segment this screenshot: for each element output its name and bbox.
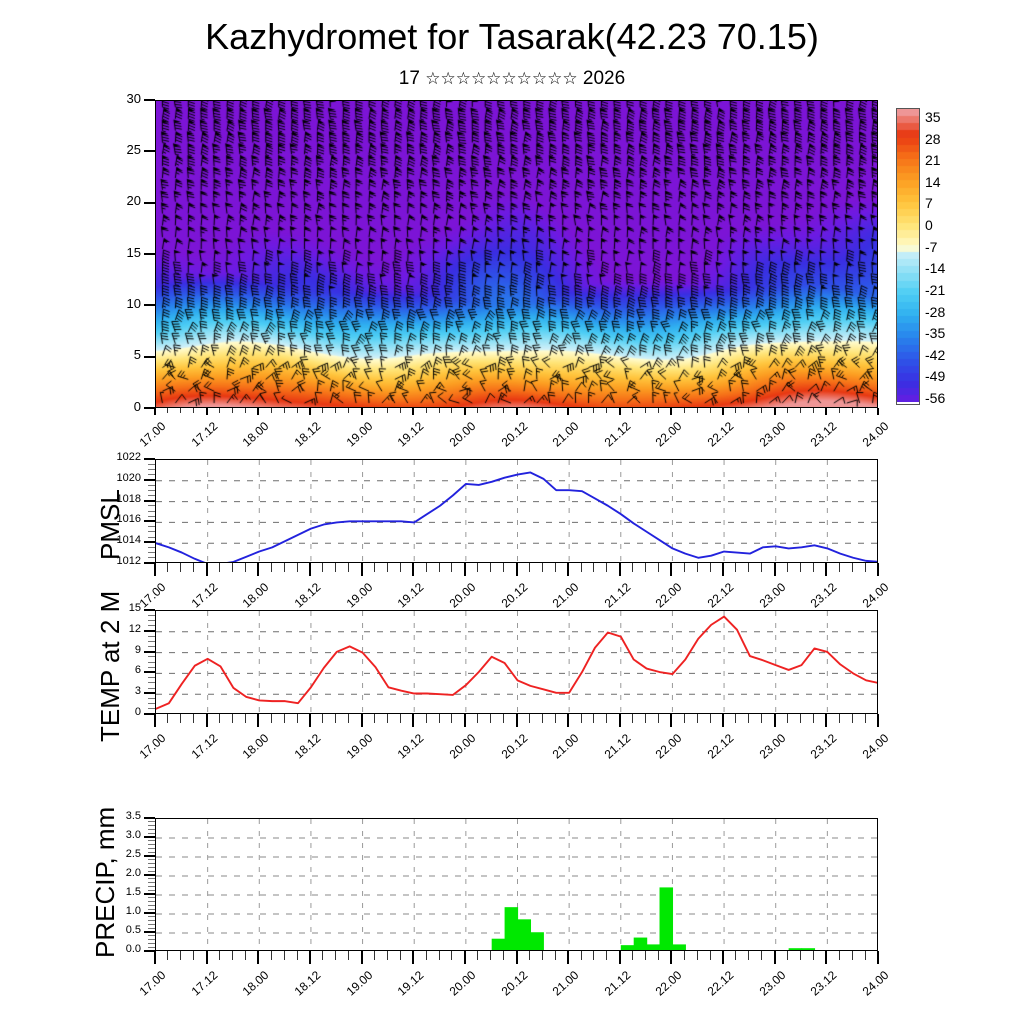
y-tick-minor <box>148 485 155 486</box>
x-tick-minor <box>697 408 698 413</box>
precip-bar <box>530 932 544 951</box>
y-tick-minor <box>148 526 155 527</box>
x-axis-tick-label: 23.12 <box>793 968 840 1012</box>
y-tick-minor <box>148 646 155 647</box>
y-tick-minor <box>148 625 155 626</box>
x-tick-minor <box>658 408 659 413</box>
precip-bar <box>492 939 506 951</box>
subtitle-year: 2026 <box>583 68 625 89</box>
x-tick-minor <box>684 951 685 960</box>
x-tick-major <box>154 408 156 415</box>
x-tick-minor <box>271 408 272 413</box>
x-tick-minor <box>529 408 530 413</box>
y-tick-minor <box>148 840 155 841</box>
x-tick-minor <box>710 408 711 413</box>
y-tick-minor <box>148 871 155 872</box>
x-tick-minor <box>439 951 440 960</box>
x-tick-major <box>516 408 518 415</box>
x-axis-tick-label: 20.12 <box>483 731 530 775</box>
x-tick-minor <box>645 714 646 723</box>
x-tick-minor <box>167 714 168 723</box>
x-tick-major <box>309 714 311 727</box>
x-tick-minor <box>335 408 336 413</box>
x-axis-tick-label: 17.12 <box>173 968 220 1012</box>
colorbar-tick-label: 7 <box>925 195 933 211</box>
x-tick-minor <box>606 408 607 413</box>
y-tick-major <box>144 202 155 204</box>
x-axis-tick-label: 21.00 <box>535 968 582 1012</box>
x-tick-minor <box>284 714 285 723</box>
x-tick-minor <box>787 714 788 723</box>
y-tick-minor <box>148 698 155 699</box>
y-tick-minor <box>148 677 155 678</box>
y-tick-minor <box>148 905 155 906</box>
x-tick-minor <box>400 714 401 723</box>
x-tick-major <box>619 714 621 727</box>
y-tick-minor <box>148 516 155 517</box>
x-tick-major <box>206 714 208 727</box>
x-tick-minor <box>710 951 711 960</box>
y-tick-major <box>144 541 155 543</box>
x-tick-minor <box>271 951 272 960</box>
x-tick-major <box>257 951 259 964</box>
x-tick-major <box>154 714 156 727</box>
x-tick-minor <box>219 563 220 572</box>
x-axis-tick-label: 22.00 <box>638 419 685 463</box>
y-tick-minor <box>148 708 155 709</box>
x-tick-minor <box>439 408 440 413</box>
y-tick-minor <box>148 890 155 891</box>
x-tick-minor <box>180 714 181 723</box>
x-tick-major <box>309 951 311 964</box>
x-axis-tick-label: 19.12 <box>380 968 427 1012</box>
page-title: Kazhydromet for Tasarak(42.23 70.15) <box>0 16 1024 58</box>
x-tick-minor <box>348 714 349 723</box>
y-tick-minor <box>148 916 155 917</box>
x-tick-minor <box>800 714 801 723</box>
x-tick-minor <box>710 714 711 723</box>
y-axis-tick-label: 1022 <box>93 451 141 463</box>
x-tick-minor <box>710 563 711 572</box>
x-tick-minor <box>852 563 853 572</box>
x-tick-minor <box>490 408 491 413</box>
x-tick-major <box>619 951 621 964</box>
x-tick-minor <box>581 714 582 723</box>
temp-axis-label: TEMP at 2 M <box>95 591 126 742</box>
x-tick-minor <box>632 951 633 960</box>
x-tick-minor <box>748 408 749 413</box>
x-tick-major <box>825 563 827 576</box>
x-tick-minor <box>387 714 388 723</box>
y-tick-major <box>144 304 155 306</box>
x-tick-minor <box>167 563 168 572</box>
x-tick-minor <box>852 951 853 960</box>
y-tick-minor <box>148 641 155 642</box>
x-tick-minor <box>813 563 814 572</box>
x-tick-minor <box>658 714 659 723</box>
x-tick-major <box>722 951 724 964</box>
x-tick-minor <box>697 563 698 572</box>
colorbar-tick-label: 21 <box>925 152 941 168</box>
y-tick-minor <box>148 920 155 921</box>
x-tick-minor <box>193 408 194 413</box>
x-tick-major <box>361 408 363 415</box>
x-tick-major <box>412 563 414 576</box>
x-tick-minor <box>555 714 556 723</box>
colorbar-tick-label: -28 <box>925 304 945 320</box>
x-tick-minor <box>503 951 504 960</box>
x-axis-tick-label: 23.12 <box>793 731 840 775</box>
y-tick-minor <box>148 924 155 925</box>
x-axis-tick-label: 19.00 <box>328 419 375 463</box>
x-tick-minor <box>555 408 556 413</box>
x-tick-minor <box>426 408 427 413</box>
y-tick-major <box>144 458 155 460</box>
x-tick-minor <box>348 951 349 960</box>
x-tick-major <box>309 408 311 415</box>
x-tick-minor <box>748 714 749 723</box>
x-axis-tick-label: 17.12 <box>173 731 220 775</box>
y-tick-minor <box>148 829 155 830</box>
x-tick-major <box>257 408 259 415</box>
x-tick-minor <box>426 563 427 572</box>
precip-bar <box>789 948 803 951</box>
y-tick-minor <box>148 947 155 948</box>
precip-bar <box>672 944 686 951</box>
x-tick-minor <box>735 408 736 413</box>
x-tick-minor <box>374 408 375 413</box>
x-tick-minor <box>542 951 543 960</box>
y-tick-major <box>144 520 155 522</box>
x-tick-minor <box>593 563 594 572</box>
x-tick-minor <box>593 714 594 723</box>
x-tick-minor <box>387 563 388 572</box>
x-tick-minor <box>787 408 788 413</box>
pmsl-plot[interactable] <box>155 459 878 563</box>
y-tick-major <box>144 671 155 673</box>
x-tick-minor <box>645 408 646 413</box>
x-tick-minor <box>271 714 272 723</box>
x-axis-tick-label: 19.00 <box>328 731 375 775</box>
page-subtitle: 17 ☆☆☆☆☆☆☆☆☆☆ 2026 <box>0 68 1024 90</box>
x-tick-minor <box>555 951 556 960</box>
x-tick-minor <box>490 951 491 960</box>
y-axis-tick-label: 20 <box>93 193 141 208</box>
x-tick-minor <box>477 563 478 572</box>
colorbar-tick-label: -21 <box>925 282 945 298</box>
x-tick-minor <box>490 563 491 572</box>
x-tick-minor <box>761 951 762 960</box>
x-tick-minor <box>761 563 762 572</box>
y-tick-minor <box>148 656 155 657</box>
x-tick-minor <box>839 714 840 723</box>
x-tick-major <box>722 563 724 576</box>
y-tick-minor <box>148 935 155 936</box>
x-tick-minor <box>322 951 323 960</box>
y-tick-minor <box>148 537 155 538</box>
x-tick-minor <box>193 563 194 572</box>
y-tick-major <box>144 692 155 694</box>
x-tick-minor <box>297 714 298 723</box>
x-tick-minor <box>180 951 181 960</box>
x-tick-minor <box>335 714 336 723</box>
pmsl-axis-label: PMSL <box>95 489 126 560</box>
x-tick-major <box>774 563 776 576</box>
x-tick-minor <box>645 563 646 572</box>
y-axis-tick-label: 10 <box>93 296 141 311</box>
x-tick-major <box>877 951 879 964</box>
y-tick-major <box>144 253 155 255</box>
y-tick-minor <box>148 848 155 849</box>
x-tick-minor <box>735 563 736 572</box>
y-tick-minor <box>148 882 155 883</box>
x-axis-tick-label: 21.12 <box>587 968 634 1012</box>
subtitle-day: 17 <box>399 68 420 89</box>
y-axis-tick-label: 15 <box>93 245 141 260</box>
y-tick-minor <box>148 852 155 853</box>
x-tick-minor <box>297 563 298 572</box>
x-tick-minor <box>542 714 543 723</box>
x-tick-minor <box>335 563 336 572</box>
y-tick-minor <box>148 688 155 689</box>
y-tick-minor <box>148 928 155 929</box>
colorbar-tick-label: 0 <box>925 217 933 233</box>
x-tick-minor <box>245 408 246 413</box>
x-tick-major <box>516 951 518 964</box>
x-tick-minor <box>284 563 285 572</box>
precip-bar <box>518 919 532 951</box>
y-tick-minor <box>148 511 155 512</box>
x-axis-tick-label: 17.00 <box>122 419 169 463</box>
x-tick-minor <box>374 951 375 960</box>
y-axis-tick-label: 1020 <box>93 472 141 484</box>
precip-bar <box>647 944 661 951</box>
y-tick-minor <box>148 552 155 553</box>
x-tick-minor <box>593 408 594 413</box>
x-axis-tick-label: 22.00 <box>638 731 685 775</box>
y-tick-major <box>144 609 155 611</box>
subtitle-month-glyphs: ☆☆☆☆☆☆☆☆☆☆ <box>425 69 577 88</box>
x-tick-minor <box>167 951 168 960</box>
y-tick-minor <box>148 615 155 616</box>
y-tick-minor <box>148 505 155 506</box>
x-tick-minor <box>800 563 801 572</box>
precip-plot[interactable] <box>155 818 878 951</box>
x-tick-minor <box>335 951 336 960</box>
x-tick-minor <box>451 951 452 960</box>
y-axis-tick-label: 0 <box>93 399 141 414</box>
x-axis-tick-label: 18.00 <box>225 968 272 1012</box>
x-tick-major <box>361 714 363 727</box>
x-tick-minor <box>735 951 736 960</box>
x-tick-minor <box>529 714 530 723</box>
precip-bar <box>660 887 674 951</box>
x-tick-minor <box>271 563 272 572</box>
x-tick-minor <box>813 951 814 960</box>
x-tick-minor <box>529 563 530 572</box>
y-tick-minor <box>148 886 155 887</box>
x-tick-major <box>361 563 363 576</box>
x-tick-major <box>877 714 879 727</box>
x-tick-major <box>464 714 466 727</box>
x-tick-minor <box>219 714 220 723</box>
x-tick-minor <box>606 563 607 572</box>
x-tick-minor <box>632 714 633 723</box>
x-tick-minor <box>387 951 388 960</box>
x-axis-tick-label: 18.12 <box>277 419 324 463</box>
colorbar-tick-label: -49 <box>925 368 945 384</box>
y-tick-minor <box>148 897 155 898</box>
x-axis-tick-label: 20.00 <box>432 731 479 775</box>
x-tick-minor <box>555 563 556 572</box>
y-tick-minor <box>148 943 155 944</box>
x-axis-tick-label: 17.00 <box>122 731 169 775</box>
x-axis-tick-label: 18.12 <box>277 731 324 775</box>
x-tick-major <box>774 951 776 964</box>
cross-section-plot[interactable] <box>155 100 878 408</box>
y-tick-minor <box>148 531 155 532</box>
x-axis-tick-label: 24.00 <box>845 968 892 1012</box>
x-tick-minor <box>865 408 866 413</box>
temp-plot[interactable] <box>155 610 878 714</box>
y-tick-minor <box>148 495 155 496</box>
x-tick-minor <box>787 563 788 572</box>
x-tick-major <box>464 408 466 415</box>
x-axis-tick-label: 20.00 <box>432 968 479 1012</box>
x-tick-minor <box>451 714 452 723</box>
precip-axis-label: PRECIP, mm <box>90 807 121 958</box>
x-tick-major <box>412 408 414 415</box>
y-tick-minor <box>148 469 155 470</box>
x-axis-tick-label: 23.00 <box>742 419 789 463</box>
x-tick-major <box>722 714 724 727</box>
y-tick-major <box>144 630 155 632</box>
y-tick-minor <box>148 682 155 683</box>
y-tick-minor <box>148 547 155 548</box>
x-tick-major <box>257 714 259 727</box>
x-axis-tick-label: 22.12 <box>690 968 737 1012</box>
x-tick-major <box>154 951 156 964</box>
x-tick-minor <box>632 563 633 572</box>
x-axis-tick-label: 21.12 <box>587 731 634 775</box>
colorbar-tick-label: -35 <box>925 325 945 341</box>
x-tick-minor <box>684 714 685 723</box>
y-tick-minor <box>148 703 155 704</box>
x-tick-minor <box>322 563 323 572</box>
x-tick-minor <box>297 951 298 960</box>
x-tick-minor <box>503 714 504 723</box>
y-tick-major <box>144 407 155 409</box>
x-tick-minor <box>839 408 840 413</box>
x-tick-minor <box>322 714 323 723</box>
y-tick-minor <box>148 662 155 663</box>
x-tick-minor <box>451 408 452 413</box>
x-tick-minor <box>865 951 866 960</box>
x-tick-major <box>670 408 672 415</box>
x-tick-minor <box>800 951 801 960</box>
x-tick-minor <box>167 408 168 413</box>
x-tick-minor <box>426 714 427 723</box>
y-tick-minor <box>148 844 155 845</box>
x-tick-minor <box>426 951 427 960</box>
x-tick-major <box>464 563 466 576</box>
y-axis-tick-label: 30 <box>93 91 141 106</box>
y-tick-minor <box>148 636 155 637</box>
x-axis-tick-label: 19.00 <box>328 968 375 1012</box>
x-tick-minor <box>542 563 543 572</box>
x-tick-minor <box>865 563 866 572</box>
x-tick-minor <box>193 714 194 723</box>
x-tick-minor <box>322 408 323 413</box>
x-tick-minor <box>684 563 685 572</box>
x-tick-minor <box>387 408 388 413</box>
x-tick-major <box>206 408 208 415</box>
x-tick-minor <box>400 563 401 572</box>
x-tick-minor <box>658 563 659 572</box>
x-tick-major <box>619 408 621 415</box>
y-axis-tick-label: 25 <box>93 142 141 157</box>
x-tick-minor <box>232 563 233 572</box>
y-tick-minor <box>148 833 155 834</box>
y-tick-major <box>144 713 155 715</box>
colorbar-tick-label: -42 <box>925 347 945 363</box>
x-tick-minor <box>348 408 349 413</box>
x-tick-minor <box>581 408 582 413</box>
x-tick-major <box>670 563 672 576</box>
x-tick-minor <box>284 951 285 960</box>
y-tick-minor <box>148 490 155 491</box>
x-tick-minor <box>813 408 814 413</box>
y-tick-major <box>144 500 155 502</box>
x-tick-major <box>257 563 259 576</box>
x-axis-tick-label: 19.12 <box>380 731 427 775</box>
x-tick-minor <box>684 408 685 413</box>
x-axis-tick-label: 20.12 <box>483 419 530 463</box>
x-tick-major <box>670 951 672 964</box>
temperature-colorbar <box>896 108 920 405</box>
x-tick-minor <box>542 408 543 413</box>
y-tick-major <box>144 912 155 914</box>
y-tick-major <box>144 817 155 819</box>
x-tick-major <box>774 408 776 415</box>
x-tick-minor <box>400 951 401 960</box>
x-tick-minor <box>232 714 233 723</box>
y-tick-minor <box>148 557 155 558</box>
x-tick-minor <box>245 951 246 960</box>
x-tick-minor <box>606 714 607 723</box>
x-tick-minor <box>400 408 401 413</box>
x-axis-tick-label: 17.12 <box>173 419 220 463</box>
y-tick-major <box>144 479 155 481</box>
colorbar-tick-label: 35 <box>925 109 941 125</box>
x-tick-minor <box>297 408 298 413</box>
y-tick-minor <box>148 859 155 860</box>
y-tick-minor <box>148 867 155 868</box>
x-tick-minor <box>490 714 491 723</box>
x-tick-major <box>412 951 414 964</box>
colorbar-tick-label: -14 <box>925 260 945 276</box>
y-tick-minor <box>148 901 155 902</box>
x-tick-minor <box>839 951 840 960</box>
x-tick-minor <box>219 408 220 413</box>
y-tick-major <box>144 356 155 358</box>
x-tick-minor <box>697 714 698 723</box>
x-tick-major <box>825 951 827 964</box>
x-tick-minor <box>503 408 504 413</box>
y-tick-major <box>144 855 155 857</box>
y-tick-major <box>144 836 155 838</box>
y-tick-major <box>144 150 155 152</box>
